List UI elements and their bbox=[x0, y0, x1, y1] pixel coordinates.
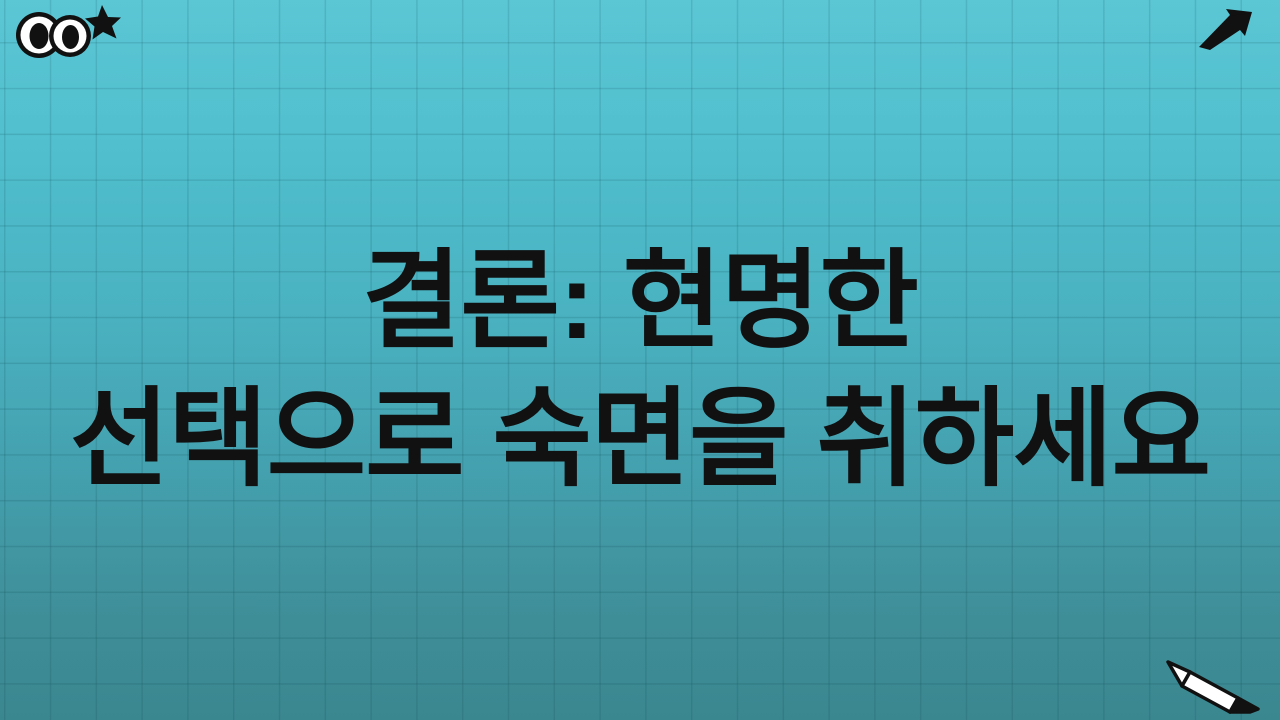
pencil-icon bbox=[1160, 648, 1270, 714]
eye-right-icon bbox=[49, 15, 91, 57]
cursor-arrow-icon bbox=[1196, 4, 1254, 52]
eyes-star-logo bbox=[4, 2, 128, 64]
page-title: 결론: 현명한 선택으로 숙면을 취하세요 bbox=[0, 232, 1280, 508]
slide-canvas: 결론: 현명한 선택으로 숙면을 취하세요 bbox=[0, 0, 1280, 720]
